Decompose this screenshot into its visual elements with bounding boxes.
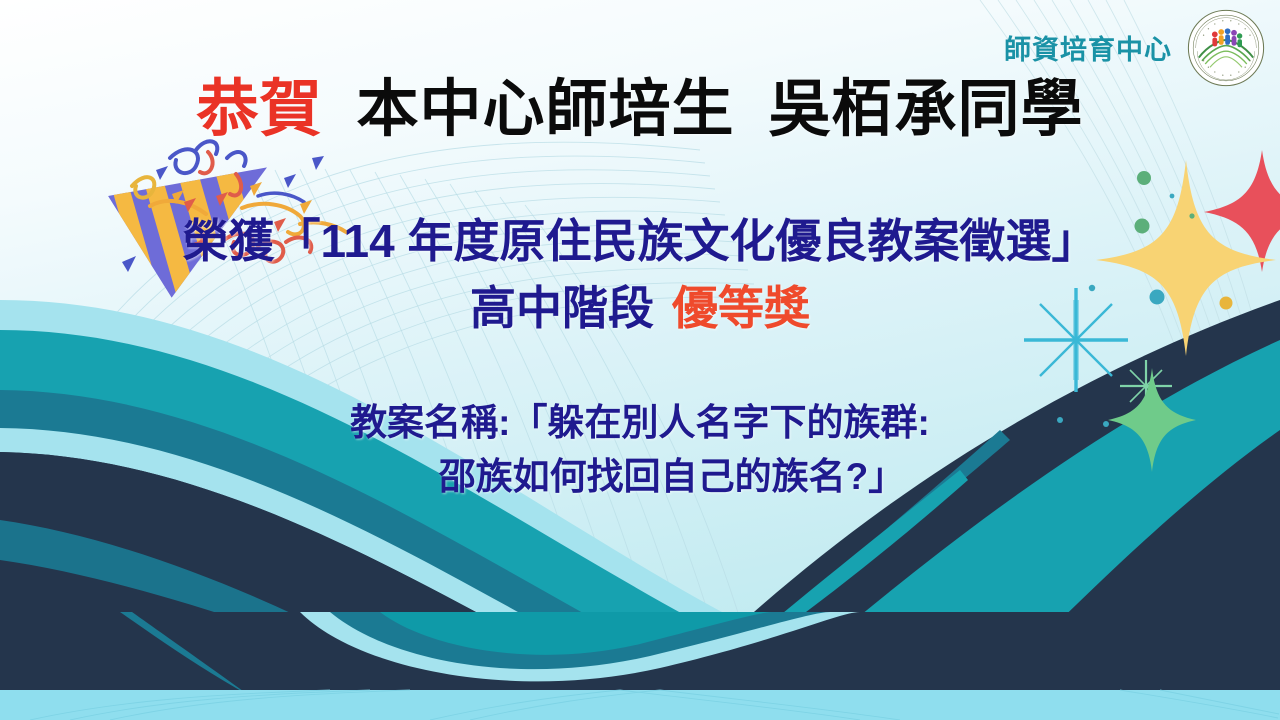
page-title: 恭賀本中心師培生吳栢承同學 — [0, 58, 1280, 148]
center-name-label: 師資培育中心 — [1004, 28, 1172, 67]
award-competition-line: 榮獲「114 年度原住民族文化優良教案徵選」 — [0, 205, 1280, 271]
lesson-plan-line-2: 邵族如何找回自己的族名?」 — [0, 450, 1280, 504]
headline-subject: 本中心師培生 — [356, 75, 734, 144]
award-prize-line: 高中階段優等獎 — [0, 272, 1280, 338]
award-prize: 優等獎 — [672, 282, 810, 334]
slide-canvas: 師資培育中心 恭賀本中心師培生吳 — [0, 0, 1280, 720]
congrats-word: 恭賀 — [196, 75, 322, 144]
institute-logo-icon — [1186, 8, 1266, 88]
award-stage: 高中階段 — [470, 282, 654, 334]
lesson-plan-line-1: 教案名稱:「躲在別人名字下的族群: — [0, 396, 1280, 450]
lesson-plan-title: 教案名稱:「躲在別人名字下的族群: 邵族如何找回自己的族名?」 — [0, 396, 1280, 504]
student-name: 吳栢承同學 — [769, 75, 1084, 144]
